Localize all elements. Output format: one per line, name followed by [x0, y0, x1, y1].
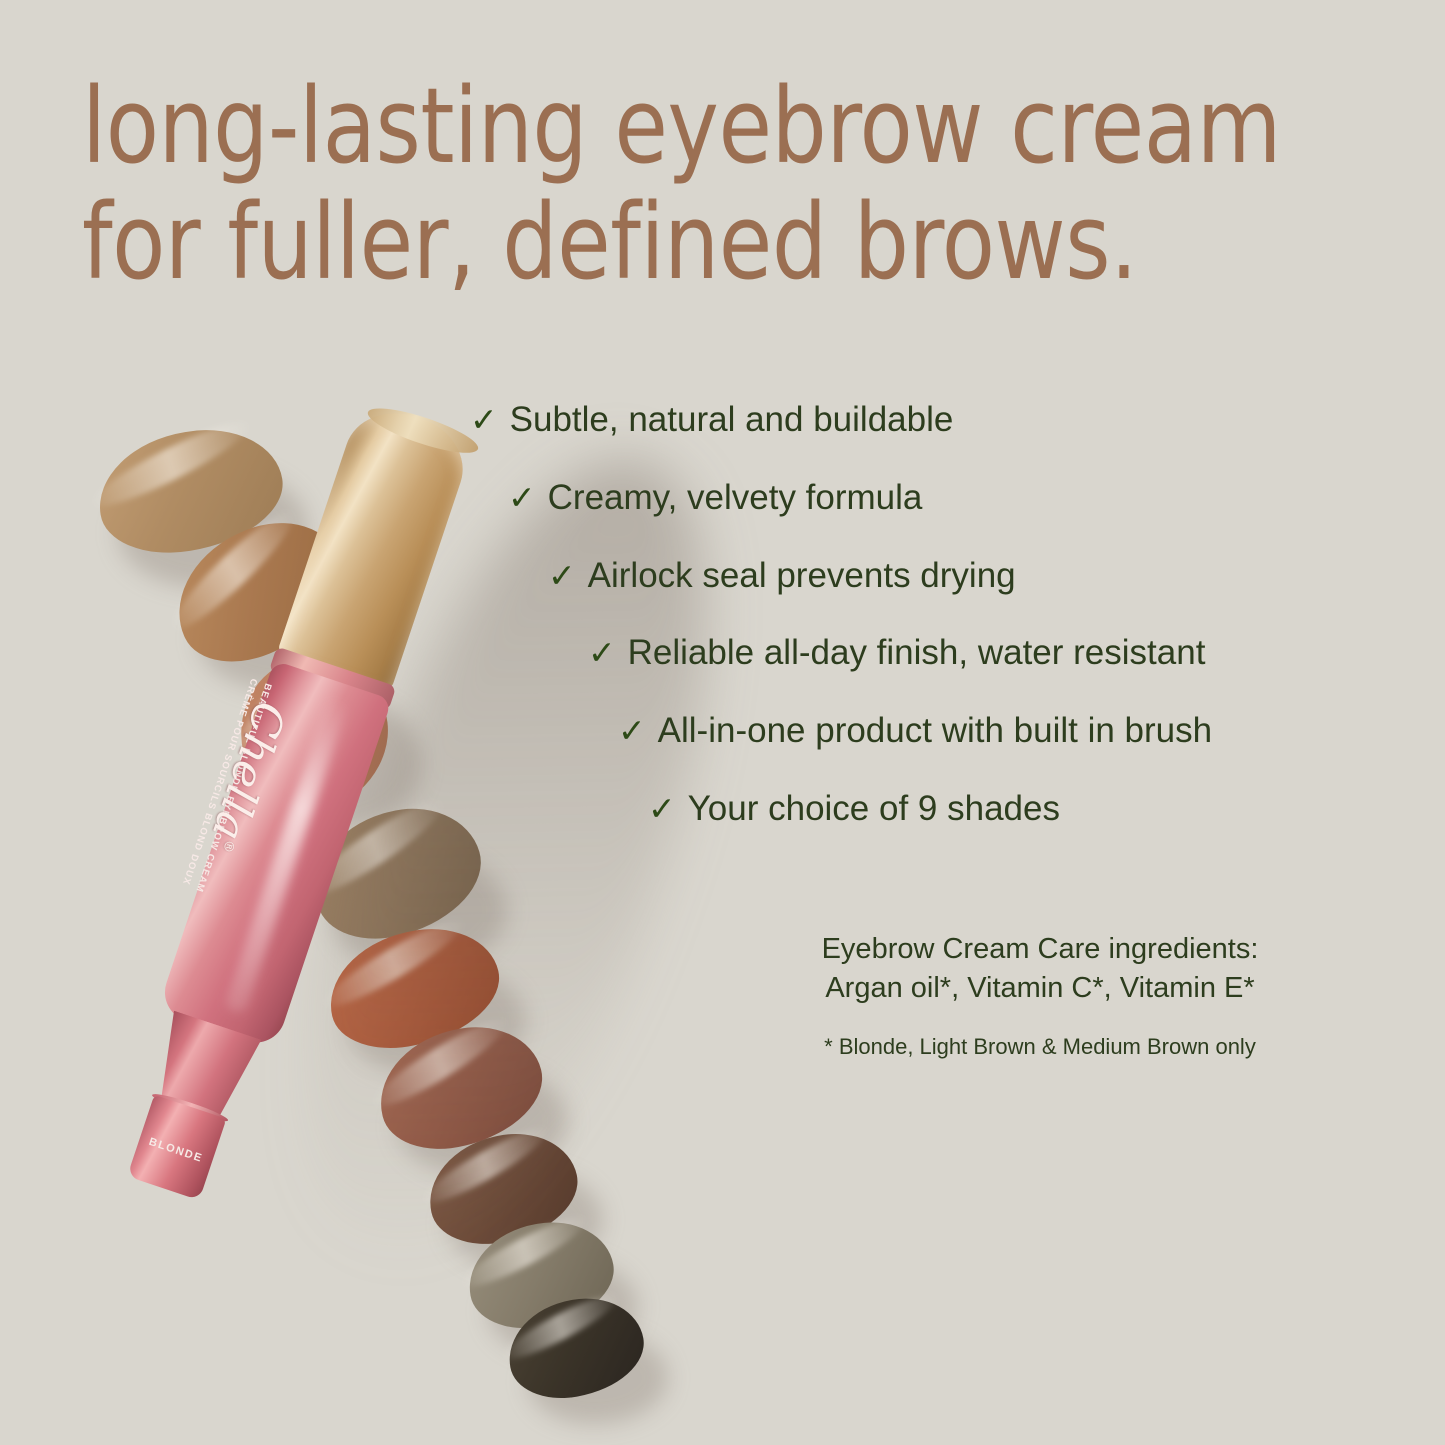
check-icon: ✓ — [470, 403, 498, 438]
benefit-item: ✓ Creamy, velvety formula — [508, 480, 1370, 517]
promo-canvas: long-lasting eyebrow cream for fuller, d… — [0, 0, 1445, 1445]
ingredients-footnote: * Blonde, Light Brown & Medium Brown onl… — [750, 1034, 1330, 1060]
page-title: long-lasting eyebrow cream for fuller, d… — [82, 68, 1319, 301]
check-icon: ✓ — [548, 559, 576, 594]
benefit-label: Subtle, natural and buildable — [510, 402, 954, 439]
benefit-item: ✓ Subtle, natural and buildable — [470, 402, 1370, 439]
check-icon: ✓ — [618, 714, 646, 749]
benefit-label: Your choice of 9 shades — [688, 791, 1060, 828]
benefit-label: Creamy, velvety formula — [548, 480, 923, 517]
benefit-label: All-in-one product with built in brush — [658, 713, 1212, 750]
check-icon: ✓ — [648, 792, 676, 827]
check-icon: ✓ — [588, 636, 616, 671]
benefit-item: ✓ Reliable all-day finish, water resista… — [588, 635, 1370, 672]
shade-name-label: BLONDE — [138, 1133, 214, 1168]
benefit-label: Airlock seal prevents drying — [588, 558, 1016, 595]
benefit-label: Reliable all-day finish, water resistant — [628, 635, 1206, 672]
cap-top — [364, 400, 482, 461]
ingredients-block: Eyebrow Cream Care ingredients: Argan oi… — [750, 930, 1330, 1060]
benefit-item: ✓ Airlock seal prevents drying — [548, 558, 1370, 595]
ingredients-list: Argan oil*, Vitamin C*, Vitamin E* — [750, 969, 1330, 1008]
benefits-list: ✓ Subtle, natural and buildable ✓ Creamy… — [470, 402, 1370, 828]
check-icon: ✓ — [508, 481, 536, 516]
benefit-item: ✓ All-in-one product with built in brush — [618, 713, 1370, 750]
benefit-item: ✓ Your choice of 9 shades — [648, 791, 1370, 828]
ingredients-heading: Eyebrow Cream Care ingredients: — [750, 930, 1330, 969]
